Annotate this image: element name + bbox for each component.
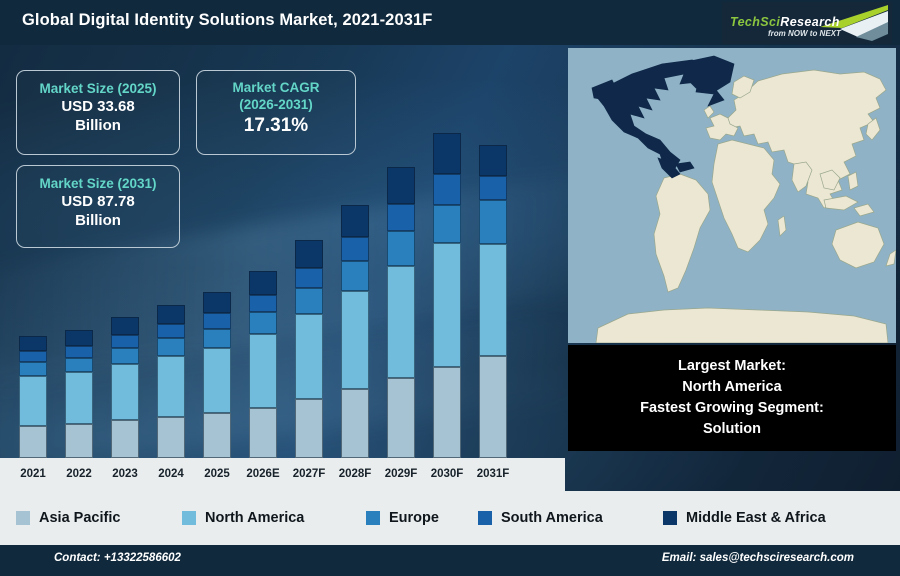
bar-segment [341, 261, 369, 291]
x-axis-label-2031F: 2031F [466, 462, 520, 486]
bar-segment [341, 389, 369, 458]
largest-market-value: North America [568, 377, 896, 398]
bar-segment [433, 243, 461, 367]
bar-segment [19, 362, 47, 376]
bar-segment [433, 205, 461, 244]
world-map [568, 48, 896, 343]
bar-segment [157, 305, 185, 324]
map-region-australia [832, 222, 884, 268]
bar-segment [387, 167, 415, 204]
bar-segment [295, 288, 323, 314]
legend-label: Europe [389, 510, 439, 526]
bar-segment [65, 358, 93, 373]
legend-item[interactable]: Middle East & Africa [663, 510, 826, 526]
bar-segment [157, 324, 185, 338]
bar-2025 [203, 292, 231, 458]
bar-segment [387, 204, 415, 231]
bar-segment [479, 145, 507, 176]
bar-segment [295, 240, 323, 268]
fastest-segment-label: Fastest Growing Segment: [568, 398, 896, 419]
bar-2022 [65, 330, 93, 458]
bar-2030F [433, 133, 461, 458]
legend-swatch [663, 511, 677, 525]
bar-segment [111, 335, 139, 348]
logo-brand-research: Research [780, 15, 840, 29]
footer-bar: Contact: +13322586602 Email: sales@techs… [0, 545, 900, 576]
bar-segment [295, 314, 323, 399]
bar-segment [479, 244, 507, 356]
legend-label: Asia Pacific [39, 510, 120, 526]
bar-segment [249, 334, 277, 408]
header-bar: Global Digital Identity Solutions Market… [0, 0, 900, 45]
map-region-antarctica [596, 308, 888, 343]
map-region-madagascar [778, 216, 786, 236]
bar-segment [65, 372, 93, 423]
bar-segment [479, 356, 507, 458]
bar-segment [65, 330, 93, 346]
legend-swatch [478, 511, 492, 525]
map-region-south-america [654, 174, 710, 292]
bar-segment [157, 356, 185, 417]
bar-segment [249, 295, 277, 312]
legend-swatch [366, 511, 380, 525]
bar-segment [19, 351, 47, 362]
key-findings-box: Largest Market: North America Fastest Gr… [568, 345, 896, 451]
bar-segment [203, 292, 231, 313]
logo-tagline: from NOW to NEXT [768, 29, 841, 38]
map-region-uk [704, 106, 714, 118]
bar-segment [249, 271, 277, 295]
legend-label: North America [205, 510, 304, 526]
bar-segment [433, 174, 461, 204]
bar-segment [341, 237, 369, 261]
largest-market-label: Largest Market: [568, 356, 896, 377]
legend-label: Middle East & Africa [686, 510, 826, 526]
bar-segment [249, 312, 277, 334]
map-region-greenland-highlight [684, 56, 734, 92]
footer-email: Email: sales@techsciresearch.com [662, 552, 854, 564]
map-region-caribbean-highlight [676, 162, 694, 172]
map-region-philippines [848, 172, 858, 190]
page-title: Global Digital Identity Solutions Market… [22, 11, 432, 30]
bar-2031F [479, 145, 507, 458]
bar-segment [387, 266, 415, 378]
bar-segment [111, 317, 139, 335]
legend-item[interactable]: South America [478, 510, 603, 526]
bar-segment [19, 426, 47, 458]
bar-segment [433, 133, 461, 174]
bar-segment [111, 420, 139, 458]
bar-segment [295, 268, 323, 288]
bar-segment [203, 348, 231, 413]
bar-2023 [111, 317, 139, 458]
logo-brand-tech: TechSci [730, 15, 780, 29]
legend-swatch [182, 511, 196, 525]
logo-wordmark: TechSciResearch [730, 15, 840, 29]
bar-segment [157, 417, 185, 458]
bar-segment [203, 313, 231, 328]
bar-2027F [295, 240, 323, 458]
bar-segment [387, 231, 415, 266]
bar-segment [111, 348, 139, 364]
bar-segment [479, 176, 507, 200]
bar-segment [19, 376, 47, 425]
bar-segment [203, 329, 231, 348]
infographic-page: Global Digital Identity Solutions Market… [0, 0, 900, 576]
map-region-africa [712, 140, 780, 252]
bar-segment [387, 378, 415, 458]
techsci-research-logo: TechSciResearch from NOW to NEXT [722, 2, 892, 44]
bar-2021 [19, 336, 47, 458]
stacked-bar-chart [0, 45, 565, 458]
bar-segment [19, 336, 47, 351]
bar-segment [203, 413, 231, 458]
footer-contact: Contact: +13322586602 [54, 552, 181, 564]
bar-segment [111, 364, 139, 420]
legend-item[interactable]: Asia Pacific [16, 510, 120, 526]
bar-2024 [157, 305, 185, 458]
bar-segment [479, 200, 507, 244]
bar-segment [157, 338, 185, 356]
world-map-svg [568, 48, 896, 343]
legend-label: South America [501, 510, 603, 526]
bar-segment [433, 367, 461, 458]
bar-segment [65, 424, 93, 458]
bar-segment [295, 399, 323, 458]
map-region-indonesia-2 [854, 204, 874, 216]
bar-segment [341, 291, 369, 389]
bar-segment [341, 205, 369, 237]
legend-item[interactable]: Europe [366, 510, 439, 526]
legend-swatch [16, 511, 30, 525]
bar-2029F [387, 167, 415, 458]
bar-segment [249, 408, 277, 458]
bar-segment [65, 346, 93, 358]
bar-2026E [249, 271, 277, 458]
map-region-new-zealand [886, 250, 896, 266]
fastest-segment-value: Solution [568, 419, 896, 440]
legend-item[interactable]: North America [182, 510, 304, 526]
bar-2028F [341, 205, 369, 458]
chart-legend: Asia PacificNorth AmericaEuropeSouth Ame… [0, 491, 900, 545]
